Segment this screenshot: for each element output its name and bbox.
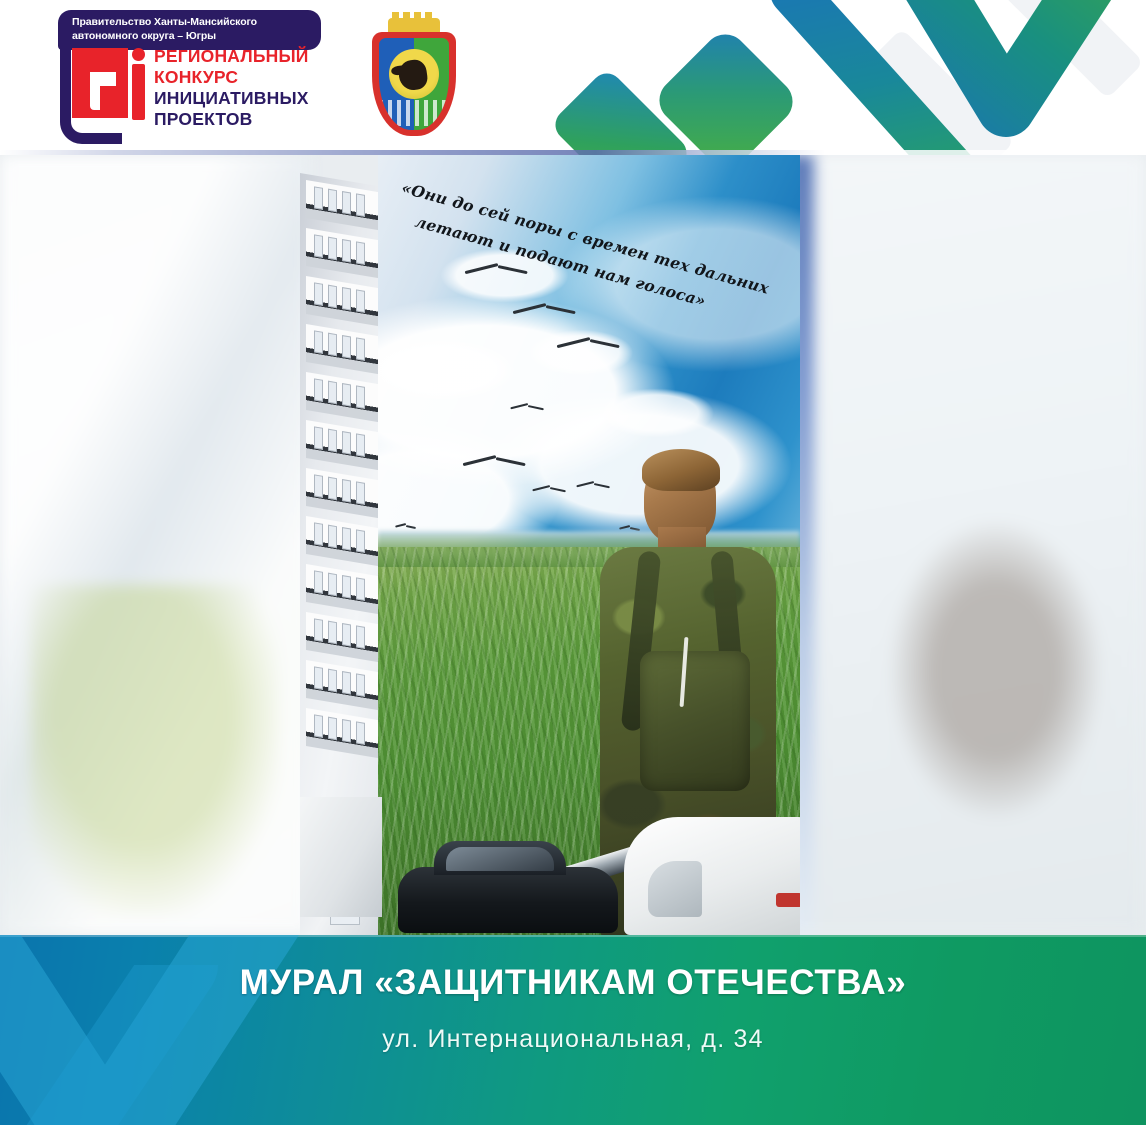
street-foreground bbox=[300, 785, 800, 935]
parked-white-car bbox=[624, 817, 800, 935]
parked-dark-car bbox=[398, 867, 618, 933]
bottom-caption-banner: МУРАЛ «ЗАЩИТНИКАМ ОТЕЧЕСТВА» ул. Интерна… bbox=[0, 935, 1146, 1125]
mural-title: МУРАЛ «ЗАЩИТНИКАМ ОТЕЧЕСТВА» bbox=[0, 963, 1146, 1003]
contest-title-text: РЕГИОНАЛЬНЫЙ КОНКУРС ИНИЦИАТИВНЫХ ПРОЕКТ… bbox=[154, 46, 344, 130]
photo-foreground: «Они до сей поры с времен тех дальних ле… bbox=[300, 155, 800, 935]
roadside-kiosk bbox=[300, 797, 382, 917]
ugi-monogram-icon bbox=[56, 42, 152, 144]
coat-of-arms-icon bbox=[366, 18, 462, 140]
blurred-backdrop-right bbox=[788, 155, 1146, 935]
government-logo-block: Правительство Ханты-Мансийского автономн… bbox=[48, 8, 338, 146]
contest-line-2: КОНКУРС bbox=[154, 67, 344, 88]
mural-address: ул. Интернациональная, д. 34 bbox=[0, 1025, 1146, 1054]
page-header: Правительство Ханты-Мансийского автономн… bbox=[0, 0, 1146, 155]
contest-line-1: РЕГИОНАЛЬНЫЙ bbox=[154, 46, 344, 67]
contest-line-3: ИНИЦИАТИВНЫХ bbox=[154, 88, 344, 109]
blurred-backdrop-left bbox=[0, 155, 310, 935]
poster-root: Правительство Ханты-Мансийского автономн… bbox=[0, 0, 1146, 1125]
gov-line-1: Правительство Ханты-Мансийского bbox=[72, 16, 313, 30]
chevron-swoosh-icon bbox=[856, 0, 1146, 155]
contest-line-4: ПРОЕКТОВ bbox=[154, 109, 344, 130]
gov-line-2: автономного округа – Югры bbox=[72, 30, 313, 44]
mural-photo: «Они до сей поры с времен тех дальних ле… bbox=[0, 155, 1146, 935]
